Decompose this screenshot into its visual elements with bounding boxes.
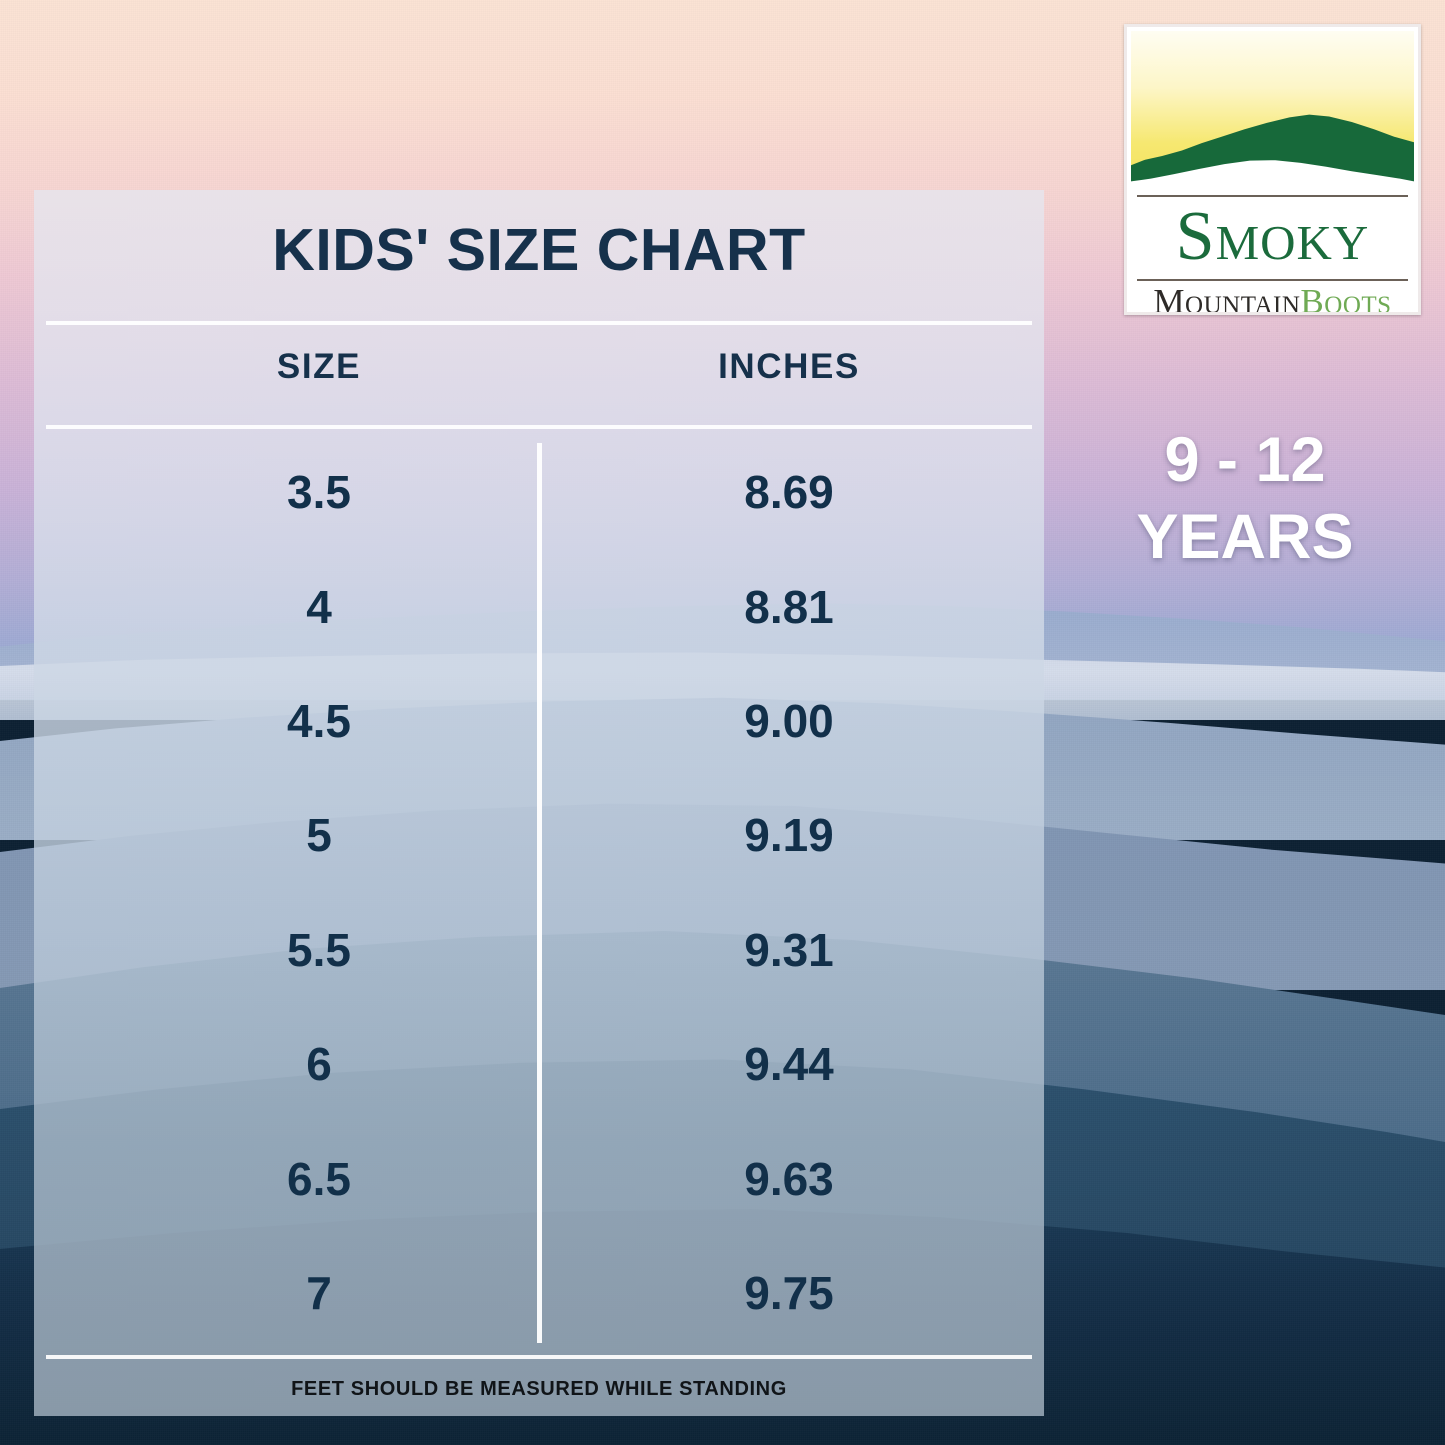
cell-size: 4.5 — [184, 694, 454, 748]
age-range-line-2: YEARS — [1085, 499, 1405, 576]
page-title: KIDS' SIZE CHART — [34, 216, 1044, 284]
cell-inches: 9.63 — [654, 1152, 924, 1206]
cell-size: 4 — [184, 580, 454, 634]
table-row: 6 9.44 — [34, 1007, 1044, 1121]
size-chart-graphic: KIDS' SIZE CHART SIZE INCHES 3.5 8.69 4 … — [0, 0, 1445, 1445]
age-range-badge: 9 - 12 YEARS — [1085, 422, 1405, 576]
table-row: 5.5 9.31 — [34, 893, 1044, 1007]
cell-size: 6 — [184, 1037, 454, 1091]
column-header-inches: INCHES — [654, 347, 924, 387]
logo-rule-top — [1137, 195, 1408, 197]
table-row: 7 9.75 — [34, 1236, 1044, 1350]
cell-size: 3.5 — [184, 465, 454, 519]
divider-above-footer — [46, 1355, 1032, 1359]
logo-rule-bottom — [1137, 279, 1408, 281]
cell-inches: 9.31 — [654, 923, 924, 977]
cell-size: 6.5 — [184, 1152, 454, 1206]
cell-size: 7 — [184, 1266, 454, 1320]
size-chart-panel: KIDS' SIZE CHART SIZE INCHES 3.5 8.69 4 … — [34, 190, 1044, 1416]
logo-brand-name: Smoky — [1127, 200, 1418, 274]
cell-inches: 9.19 — [654, 808, 924, 862]
footer-note: FEET SHOULD BE MEASURED WHILE STANDING — [34, 1378, 1044, 1401]
divider-below-header — [46, 425, 1032, 429]
table-row: 4 8.81 — [34, 549, 1044, 663]
table-row: 5 9.19 — [34, 778, 1044, 892]
cell-inches: 8.81 — [654, 580, 924, 634]
table-row: 4.5 9.00 — [34, 664, 1044, 778]
size-table-body: 3.5 8.69 4 8.81 4.5 9.00 5 9.19 5.5 9.31… — [34, 435, 1044, 1350]
cell-size: 5 — [184, 808, 454, 862]
divider-below-title — [46, 321, 1032, 325]
cell-inches: 9.44 — [654, 1037, 924, 1091]
brand-logo: Smoky MountainBoots — [1124, 24, 1421, 315]
logo-mountain-artwork — [1131, 31, 1414, 191]
table-row: 6.5 9.63 — [34, 1121, 1044, 1235]
table-row: 3.5 8.69 — [34, 435, 1044, 549]
cell-inches: 8.69 — [654, 465, 924, 519]
age-range-line-1: 9 - 12 — [1085, 422, 1405, 499]
column-header-size: SIZE — [184, 347, 454, 387]
cell-size: 5.5 — [184, 923, 454, 977]
logo-brand-boots: Boots — [1300, 282, 1391, 315]
cell-inches: 9.00 — [654, 694, 924, 748]
logo-brand-mountain: Mountain — [1153, 282, 1300, 315]
cell-inches: 9.75 — [654, 1266, 924, 1320]
logo-brand-subline: MountainBoots — [1127, 283, 1418, 315]
